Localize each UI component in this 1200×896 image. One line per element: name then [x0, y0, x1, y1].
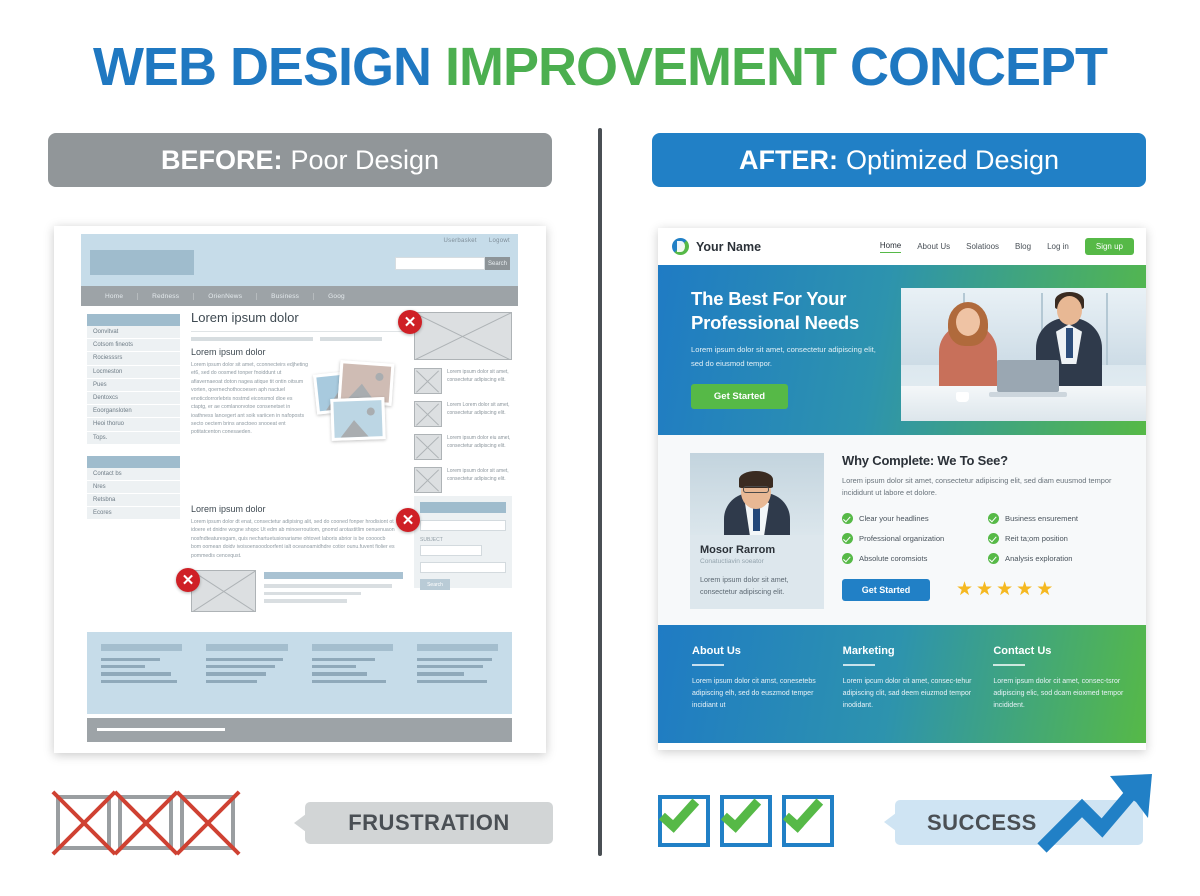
before-meta-bar-2: [320, 337, 382, 341]
banner-after-light: Optimized Design: [846, 145, 1059, 176]
signup-button[interactable]: Sign up: [1085, 238, 1134, 255]
cross-box-icon: [180, 795, 235, 850]
footer-col-marketing: Marketing Lorem ipcum dolor cit amet, co…: [843, 645, 974, 743]
title-part-2: IMPROVEMENT: [445, 37, 850, 97]
before-form-input-1[interactable]: [420, 520, 506, 531]
page-title: WEB DESIGN IMPROVEMENT CONCEPT: [0, 36, 1200, 98]
before-search-area: Search: [395, 257, 510, 270]
before-right-text-2: Lorem ipsum dolor eiu amet, consectetur …: [447, 434, 512, 460]
after-nav-item-login[interactable]: Log in: [1047, 242, 1069, 251]
footer-title-0: About Us: [692, 645, 823, 657]
why-heading: Why Complete: We To See?: [842, 453, 1126, 468]
broken-image-placeholder: [414, 434, 442, 460]
before-heading-2: Lorem ipsum dolor: [191, 347, 403, 357]
list-item[interactable]: Ecores: [87, 507, 180, 520]
profile-name: Mosor Rarrom: [700, 544, 814, 556]
after-nav-item-home[interactable]: Home: [880, 241, 901, 253]
hero-get-started-button[interactable]: Get Started: [691, 384, 788, 409]
after-nav-item-solutions[interactable]: Solatioos: [966, 242, 999, 251]
before-paragraph-1: Lorem ipsum dolor sit amet, cconnecteirs…: [191, 361, 309, 437]
frustration-label: FRUSTRATION: [305, 802, 553, 844]
before-footer-col-4: [417, 644, 498, 702]
why-paragraph: Lorem ipsum dolor sit amet, consectetur …: [842, 475, 1126, 500]
check-label-5: Analysis exploration: [1005, 554, 1073, 563]
why-section: Why Complete: We To See? Lorem ipsum dol…: [842, 453, 1126, 609]
before-sidebar-list-2: Contact bs Nres Retsbna Ecores: [87, 468, 180, 521]
before-logo-placeholder: [90, 250, 194, 275]
profile-card: Mosor Rarrom Conatuctiavin soeator Lorem…: [690, 453, 824, 609]
before-sidebar: Oonvitvat Cotsom fineots Rociesssrs Locm…: [87, 314, 180, 520]
list-item[interactable]: Cotsom fineots: [87, 339, 180, 352]
footer-col-contact: Contact Us Lorem ipsum dolor cit amet, c…: [993, 645, 1124, 743]
why-get-started-button[interactable]: Get Started: [842, 579, 930, 601]
before-main-column: Lorem ipsum dolor Lorem ipsum dolor Lore…: [191, 310, 403, 437]
before-user-links: Userbasket Logowt: [434, 238, 510, 244]
before-form-header: [420, 502, 506, 513]
before-form-input-3[interactable]: [420, 562, 506, 573]
broken-image-placeholder: [414, 368, 442, 394]
after-nav-item-about[interactable]: About Us: [917, 242, 950, 251]
cross-box-icon: [118, 795, 173, 850]
before-userbasket-link[interactable]: Userbasket: [444, 238, 477, 244]
check-circle-icon: [988, 553, 999, 564]
before-right-text-1: Lorem Lorem dolor sit amet, consectetur …: [447, 401, 512, 427]
before-footer-col-3: [312, 644, 393, 702]
why-bottom-row: Get Started ★ ★ ★ ★ ★: [842, 579, 1126, 601]
check-label-1: Business ensurement: [1005, 514, 1078, 523]
star-icon: ★: [1016, 580, 1033, 599]
list-item[interactable]: Heoi thoruo: [87, 418, 180, 431]
list-item: Reit ta;om position: [988, 533, 1126, 544]
before-nav-item-0[interactable]: Home: [91, 293, 138, 300]
list-item: Absolute coromsiots: [842, 553, 980, 564]
broken-image-placeholder: [414, 467, 442, 493]
profile-photo: [690, 453, 824, 535]
list-item: Clear your headlines: [842, 513, 980, 524]
list-item[interactable]: Contact bs: [87, 468, 180, 481]
before-right-text-0: Lorem ipsum dolor sit amet, consectetur …: [447, 368, 512, 394]
check-circle-icon: [988, 533, 999, 544]
before-form-label: SUBJECT: [420, 537, 506, 543]
after-hero-paragraph: Lorem ipsum dolor sit amet, consectetur …: [691, 343, 881, 370]
list-item[interactable]: Rociesssrs: [87, 352, 180, 365]
check-circle-icon: [988, 513, 999, 524]
check-label-0: Clear your headlines: [859, 514, 929, 523]
check-label-3: Reit ta;om position: [1005, 534, 1068, 543]
before-search-button[interactable]: Search: [485, 257, 510, 270]
list-item: Business ensurement: [988, 513, 1126, 524]
before-heading-1: Lorem ipsum dolor: [191, 310, 403, 325]
profile-role: Conatuctiavin soeator: [700, 558, 814, 565]
list-item: Lorem Lorem dolor sit amet, consectetur …: [414, 401, 512, 427]
list-item[interactable]: Dentoxcs: [87, 392, 180, 405]
check-box-icon: [720, 795, 772, 847]
check-circle-icon: [842, 533, 853, 544]
star-icon: ★: [976, 580, 993, 599]
before-form-input-2[interactable]: [420, 545, 482, 556]
before-footer-col-1: [101, 644, 182, 702]
before-nav-item-4[interactable]: Goog: [314, 293, 359, 300]
before-right-text-3: Lorem ipsum dolor sit amet, consectetur …: [447, 467, 512, 493]
after-footer: About Us Lorem ipsum dolor cit amst, con…: [658, 625, 1146, 743]
list-item[interactable]: Pues: [87, 379, 180, 392]
before-search-input[interactable]: [395, 257, 485, 270]
after-mockup: Your Name Home About Us Solatioos Blog L…: [658, 228, 1146, 750]
after-nav-item-blog[interactable]: Blog: [1015, 242, 1031, 251]
before-thumb-row: [191, 570, 403, 612]
before-sidebar-block-2: Contact bs Nres Retsbna Ecores: [87, 456, 180, 521]
before-meta-bars: [191, 337, 403, 341]
check-label-4: Absolute coromsiots: [859, 554, 927, 563]
before-rule: [191, 331, 403, 332]
hero-photo: [901, 288, 1146, 421]
list-item[interactable]: Eoorgansloten: [87, 405, 180, 418]
star-icon: ★: [956, 580, 973, 599]
star-icon: ★: [1036, 580, 1053, 599]
banner-before: BEFORE: Poor Design: [48, 133, 552, 187]
before-photo-stack: [315, 362, 401, 442]
title-part-1: WEB DESIGN: [93, 37, 445, 97]
error-cross-icon: ✕: [396, 508, 420, 532]
check-box-icon: [658, 795, 710, 847]
footer-col-about: About Us Lorem ipsum dolor cit amst, con…: [692, 645, 823, 743]
broken-image-placeholder: [414, 401, 442, 427]
before-sidebar-list-1: Oonvitvat Cotsom fineots Rociesssrs Locm…: [87, 326, 180, 445]
before-bottom-bar: [87, 718, 512, 742]
banner-after: AFTER: Optimized Design: [652, 133, 1146, 187]
list-item[interactable]: Oonvitvat: [87, 326, 180, 339]
frustration-icons: [56, 795, 242, 850]
before-paragraph-2: Lorem ipsum dolor dt enat, consectetur a…: [191, 518, 395, 560]
before-footer-col-2: [206, 644, 287, 702]
before-footer: [87, 632, 512, 714]
success-icons: [658, 795, 844, 847]
star-rating: ★ ★ ★ ★ ★: [956, 580, 1053, 599]
list-item: Analysis exploration: [988, 553, 1126, 564]
list-item[interactable]: Nres: [87, 481, 180, 494]
footer-title-1: Marketing: [843, 645, 974, 657]
banner-before-light: Poor Design: [290, 145, 439, 176]
center-divider: [598, 128, 602, 856]
before-nav-item-1[interactable]: Redness: [138, 293, 194, 300]
list-item: Lorem ipsum dolor sit amet, consectetur …: [414, 368, 512, 394]
check-circle-icon: [842, 513, 853, 524]
before-nav-item-2[interactable]: OrienNews: [194, 293, 257, 300]
before-sidebar-form: SUBJECT Search: [414, 496, 512, 588]
footer-text-0: Lorem ipsum dolor cit amst, conesetebs a…: [692, 676, 823, 713]
check-box-icon: [782, 795, 834, 847]
after-hero: The Best For Your Professional Needs Lor…: [658, 265, 1146, 435]
before-second-article: Lorem ipsum dolor Lorem ipsum dolor dt e…: [191, 504, 403, 612]
before-thumb-lines: [264, 570, 403, 607]
before-heading-3: Lorem ipsum dolor: [191, 504, 403, 514]
growth-arrow-icon: [1036, 772, 1156, 854]
footer-text-2: Lorem ipsum dolor cit amet, consec-tsror…: [993, 676, 1124, 713]
before-logout-link[interactable]: Logowt: [489, 238, 510, 244]
list-item: Lorem ipsum dolor eiu amet, consectetur …: [414, 434, 512, 460]
error-cross-icon: ✕: [398, 310, 422, 334]
before-topbar: Userbasket Logowt Search: [81, 234, 518, 286]
error-cross-icon: ✕: [176, 568, 200, 592]
footer-title-2: Contact Us: [993, 645, 1124, 657]
after-features-section: Mosor Rarrom Conatuctiavin soeator Lorem…: [658, 435, 1146, 625]
list-item[interactable]: Retsbna: [87, 494, 180, 507]
list-item: Professional organization: [842, 533, 980, 544]
after-nav-items: Home About Us Solatioos Blog Log in Sign…: [880, 238, 1134, 255]
broken-image-placeholder: [414, 312, 512, 360]
star-icon: ★: [996, 580, 1013, 599]
brand-logo-icon: [672, 238, 689, 255]
why-checklist: Clear your headlines Business ensurement…: [842, 513, 1126, 564]
after-navbar: Your Name Home About Us Solatioos Blog L…: [658, 228, 1146, 265]
after-logo-text: Your Name: [696, 240, 761, 254]
before-nav: Home Redness OrienNews Business Goog: [81, 286, 518, 306]
cross-box-icon: [56, 795, 111, 850]
infographic-page: WEB DESIGN IMPROVEMENT CONCEPT BEFORE: P…: [0, 0, 1200, 896]
list-item[interactable]: Tops.: [87, 432, 180, 445]
check-circle-icon: [842, 553, 853, 564]
before-right-column: Lorem ipsum dolor sit amet, consectetur …: [414, 312, 512, 500]
before-form-submit-button[interactable]: Search: [420, 579, 450, 590]
before-mockup: Userbasket Logowt Search Home Redness Or…: [54, 226, 546, 753]
profile-text: Lorem ipsum dolor sit amet, consectetur …: [700, 574, 814, 597]
before-meta-bar-1: [191, 337, 313, 341]
banner-after-bold: AFTER:: [739, 145, 838, 176]
title-part-3: CONCEPT: [850, 37, 1107, 97]
broken-image-placeholder: [191, 570, 256, 612]
footer-text-1: Lorem ipcum dolor cit amet, consec-tehur…: [843, 676, 974, 713]
before-nav-item-3[interactable]: Business: [257, 293, 314, 300]
banner-before-bold: BEFORE:: [161, 145, 283, 176]
list-item[interactable]: Locmeston: [87, 366, 180, 379]
before-sidebar-header-2: [87, 456, 180, 468]
before-sidebar-header-1: [87, 314, 180, 326]
photo-placeholder: [330, 397, 385, 441]
check-label-2: Professional organization: [859, 534, 944, 543]
list-item: Lorem ipsum dolor sit amet, consectetur …: [414, 467, 512, 493]
